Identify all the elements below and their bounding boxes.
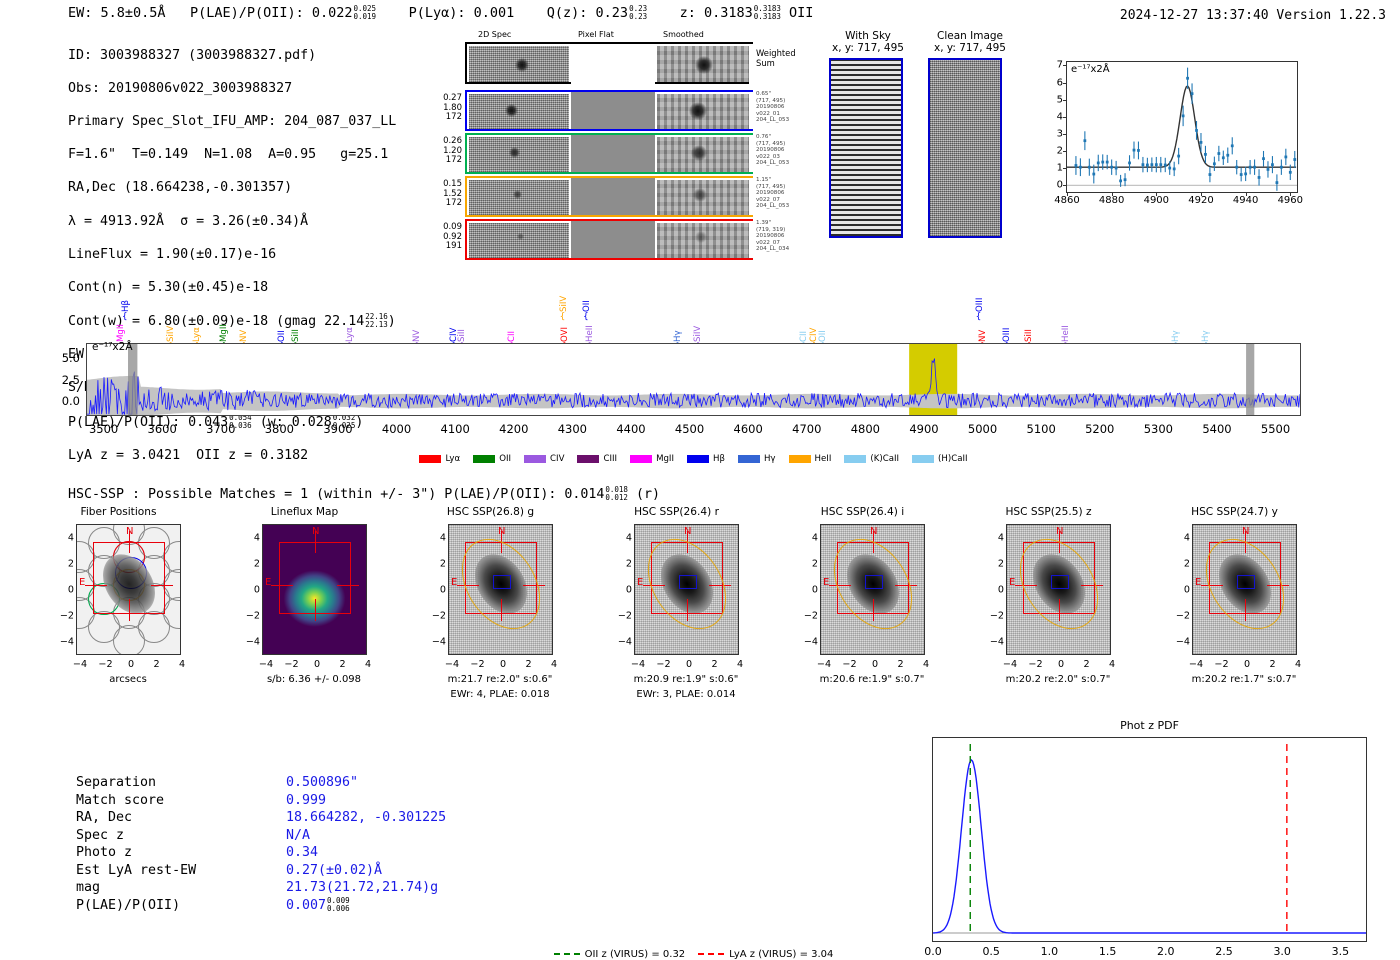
spectrum-legend-item: MgII	[630, 454, 674, 464]
legend-label: OII	[499, 454, 511, 464]
cutout-image[interactable]: NE	[1192, 524, 1297, 655]
cutout-x-tick: 4	[1109, 659, 1115, 670]
fiber-row	[465, 219, 753, 260]
header-summary: EW: 5.8±0.5Å P(LAE)/P(OII): 0.0220.0250.…	[68, 5, 813, 21]
cutout-caption-1: m:20.9 re:1.9" s:0.6"	[634, 674, 739, 685]
compass-e: E	[637, 577, 643, 588]
legend-label: Lyα	[445, 454, 460, 464]
clean-image	[928, 58, 1002, 238]
crosshair-h-right	[151, 585, 173, 586]
cutout-image[interactable]: NE	[448, 524, 553, 655]
photz-legend-swatch	[698, 953, 724, 955]
cutout-x-tick: −4	[1003, 659, 1017, 670]
cutout-x-tick: 2	[339, 659, 345, 670]
match-table-row: Photo z0.34	[76, 844, 446, 862]
fiber-row-meta: 1.15" (717, 495) 20190806 v022_07 204_LL…	[756, 177, 789, 210]
cutout-y-tick: −4	[982, 637, 1004, 648]
cutout-caption-1: arcsecs	[109, 674, 147, 685]
compass-n: N	[684, 526, 691, 537]
legend-swatch	[687, 455, 709, 463]
cutout-y-tick: 0	[238, 585, 260, 596]
cutout-x-tick: 2	[525, 659, 531, 670]
match-key: P(LAE)/P(OII)	[76, 897, 286, 915]
spectrum-legend: LyαOIICIVCIIIMgIIHβHγHeII(K)CaII(H)CaII	[0, 448, 1400, 467]
emission-line-fit-chart: e⁻¹⁷x2Å 01234567486048804900492049404960	[1032, 55, 1304, 219]
cutout-y-tick: −2	[424, 611, 446, 622]
crosshair-h-right	[337, 585, 359, 586]
cutout-x-tick: −4	[259, 659, 273, 670]
cutout-title: HSC SSP(24.7) y	[1191, 506, 1278, 518]
cutout-y-tick: −4	[610, 637, 632, 648]
cutout-y-tick: −4	[52, 637, 74, 648]
compass-e: E	[1009, 577, 1015, 588]
match-table-row: Est LyA rest-EW0.27(±0.02)Å	[76, 862, 446, 880]
match-key: Match score	[76, 792, 286, 810]
cutout-title: Fiber Positions	[81, 506, 157, 518]
cutout-x-tick: −2	[1214, 659, 1228, 670]
photz-title: Phot z PDF	[1120, 719, 1179, 732]
spectrum-x-tick: 4700	[792, 422, 821, 436]
spectrum-legend-item: Hβ	[687, 454, 725, 464]
header-plae: P(LAE)/P(OII): 0.022	[190, 5, 353, 21]
cutout-x-tick: −4	[631, 659, 645, 670]
legend-label: CIV	[550, 454, 564, 464]
spectrum-line-label: SiIV	[693, 308, 703, 342]
spectrum-line-label: Lyα	[192, 308, 202, 342]
cutout-x-tick: 2	[1269, 659, 1275, 670]
linefit-x-tick: 4880	[1099, 195, 1124, 206]
legend-label: MgII	[656, 454, 674, 464]
cutout-y-tick: 2	[982, 559, 1004, 570]
cutout-y-tick: −4	[238, 637, 260, 648]
legend-swatch	[789, 455, 811, 463]
cutout-y-tick: 0	[796, 585, 818, 596]
cutout-x-tick: 0	[314, 659, 320, 670]
cutout-y-tick: 4	[1168, 533, 1190, 544]
spectrum-x-tick: 4800	[851, 422, 880, 436]
spectrum-legend-item: OII	[473, 454, 511, 464]
header-plya: P(Lyα): 0.001	[409, 5, 515, 21]
catalog-marker	[865, 575, 883, 589]
photz-legend-item: LyA z (VIRUS) = 3.04	[698, 949, 833, 960]
cutout-x-tick: 0	[1058, 659, 1064, 670]
cutout-y-tick: 2	[796, 559, 818, 570]
spectrum-line-label: CII	[507, 308, 517, 342]
match-table-row: Match score0.999	[76, 792, 446, 810]
spectrum-line-label: Hγ	[673, 308, 683, 342]
clean-image-title: Clean Imagex, y: 717, 495	[925, 30, 1015, 54]
fiber-row-meta: 1.39" (719, 319) 20190806 v022_07 204_LL…	[756, 220, 789, 253]
match-key: Separation	[76, 774, 286, 792]
cutout-caption-2: EWr: 4, PLAE: 0.018	[450, 689, 549, 700]
spectrum-x-tick: 5100	[1027, 422, 1056, 436]
legend-label: Hγ	[764, 454, 776, 464]
cutout-x-tick: −2	[1028, 659, 1042, 670]
info-line-params: F=1.6" T=0.149 N=1.08 A=0.95 g=25.1	[68, 147, 396, 164]
cutout-x-tick: 2	[1083, 659, 1089, 670]
spectrum-x-tick: 3700	[206, 422, 235, 436]
spectrum-x-tick: 4600	[734, 422, 763, 436]
spectrum-y-tick: 2.5	[46, 373, 80, 387]
cutout-y-tick: −4	[1168, 637, 1190, 648]
info-line-lambda: λ = 4913.92Å σ = 3.26(±0.34)Å	[68, 214, 396, 231]
cutout-x-tick: 0	[500, 659, 506, 670]
compass-e: E	[265, 577, 271, 588]
spectrum-legend-item: HeII	[789, 454, 832, 464]
spectrum-line-label: SiIV	[166, 308, 176, 342]
cutout-y-tick: 0	[1168, 585, 1190, 596]
cutout-title: Lineflux Map	[271, 506, 338, 518]
cutout-x-tick: 4	[551, 659, 557, 670]
spectrum-line-label: OIII	[975, 278, 985, 312]
legend-swatch	[630, 455, 652, 463]
linefit-svg	[1067, 62, 1297, 192]
cutout-x-tick: 0	[872, 659, 878, 670]
info-line-obs: Obs: 20190806v022_3003988327	[68, 81, 396, 98]
fiber-row-stats: 0.27 1.80 172	[422, 94, 462, 123]
spectrum-x-tick: 5500	[1261, 422, 1290, 436]
col-title-pixelflat: Pixel Flat	[578, 30, 614, 39]
spectrum-legend-item: (H)CaII	[912, 454, 968, 464]
cutout-y-tick: −4	[424, 637, 446, 648]
legend-label: HeII	[815, 454, 832, 464]
cutout-x-tick: −2	[842, 659, 856, 670]
linefit-x-tick: 4940	[1233, 195, 1258, 206]
spectrum-plot-frame	[86, 343, 1301, 416]
fiber-row-meta: 0.65" (717, 495) 20190806 v022_01 204_LL…	[756, 91, 789, 124]
weighted-sum-row	[465, 42, 753, 84]
match-key: Est LyA rest-EW	[76, 862, 286, 880]
cutout-y-tick: 0	[424, 585, 446, 596]
spectrum-line-label: NV	[978, 308, 988, 342]
compass-n: N	[498, 526, 505, 537]
cutout-y-tick: 0	[52, 585, 74, 596]
match-key: Photo z	[76, 844, 286, 862]
col-title-2dspec: 2D Spec	[478, 30, 511, 39]
cutout-y-tick: −2	[52, 611, 74, 622]
compass-n: N	[1242, 526, 1249, 537]
cutout-x-tick: −4	[445, 659, 459, 670]
photz-legend-label: OII z (VIRUS) = 0.32	[585, 949, 686, 960]
spectrum-line-label: SiII	[291, 308, 301, 342]
match-key: RA, Dec	[76, 809, 286, 827]
cutout-x-tick: −4	[73, 659, 87, 670]
cutout-x-tick: −4	[817, 659, 831, 670]
cutout-image[interactable]: NE	[1006, 524, 1111, 655]
catalog-marker	[1051, 575, 1069, 589]
spectrum-x-tick: 3900	[323, 422, 352, 436]
legend-swatch	[844, 455, 866, 463]
cutout-x-tick: 2	[153, 659, 159, 670]
fiber-row	[465, 176, 753, 217]
match-key: mag	[76, 879, 286, 897]
spectrum-x-tick: 3500	[89, 422, 118, 436]
match-table-row: mag21.73(21.72,21.74)g	[76, 879, 446, 897]
spectrum-x-tick: 5200	[1085, 422, 1114, 436]
match-table-row: RA, Dec18.664282, -0.301225	[76, 809, 446, 827]
cutout-y-tick: 2	[238, 559, 260, 570]
cutout-x-tick: 4	[1295, 659, 1301, 670]
cutout-caption-1: m:20.2 re:2.0" s:0.7"	[1006, 674, 1111, 685]
match-details-table: Separation0.500896"Match score0.999RA, D…	[76, 774, 446, 914]
spectrum-line-label: Lyα	[345, 308, 355, 342]
header-qz-range: 0.230.23	[629, 5, 647, 21]
col-title-smoothed: Smoothed	[663, 30, 704, 39]
crosshair-h-left	[85, 585, 107, 586]
spectrum-x-tick: 4400	[616, 422, 645, 436]
cutout-caption-1: m:21.7 re:2.0" s:0.6"	[448, 674, 553, 685]
spectrum-line-label: MgII	[219, 308, 229, 342]
cutout-title: HSC SSP(26.4) r	[634, 506, 719, 518]
spectrum-line-label: OVI	[560, 308, 570, 342]
match-value: 18.664282, -0.301225	[286, 810, 446, 825]
spectrum-y-tick: 0.0	[46, 394, 80, 408]
match-value: N/A	[286, 828, 310, 843]
match-value: 0.007	[286, 898, 326, 913]
photz-legend-label: LyA z (VIRUS) = 3.04	[729, 949, 833, 960]
cutout-caption-1: m:20.2 re:1.7" s:0.7"	[1192, 674, 1297, 685]
spectrum-line-label: HeII	[1061, 308, 1071, 342]
crosshair-h-left	[271, 585, 293, 586]
spectrum-legend-item: Hγ	[738, 454, 776, 464]
match-value: 0.500896"	[286, 775, 358, 790]
spectrum-line-label: NV	[239, 308, 249, 342]
timestamp-version: 2024-12-27 13:37:40 Version 1.22.3	[1120, 8, 1386, 23]
legend-label: (K)CaII	[870, 454, 899, 464]
spectrum-x-tick: 3800	[265, 422, 294, 436]
cutout-image[interactable]: NE	[262, 524, 367, 655]
info-line-lineflux: LineFlux = 1.90(±0.17)e-16	[68, 247, 396, 264]
cutout-x-tick: 4	[923, 659, 929, 670]
photz-legend-item: OII z (VIRUS) = 0.32	[554, 949, 686, 960]
match-table-row: Spec zN/A	[76, 827, 446, 845]
spectrum-x-tick: 4500	[675, 422, 704, 436]
fiber-row	[465, 133, 753, 174]
2d-spectra-panel: 2D Spec Pixel Flat Smoothed Weighted Sum…	[420, 30, 760, 262]
spectrum-x-tick: 5000	[968, 422, 997, 436]
legend-swatch	[419, 455, 441, 463]
cutout-y-tick: 4	[52, 533, 74, 544]
catalog-marker	[1237, 575, 1255, 589]
cutout-x-tick: 2	[897, 659, 903, 670]
compass-e: E	[451, 577, 457, 588]
legend-swatch	[912, 455, 934, 463]
crosshair-v-bot	[129, 599, 130, 621]
compass-n: N	[870, 526, 877, 537]
fiber-row-stats: 0.26 1.20 172	[422, 137, 462, 166]
header-z-range: 0.31830.3183	[754, 5, 781, 21]
spectrum-line-label: Hγ	[1201, 308, 1211, 342]
cutout-y-tick: 4	[610, 533, 632, 544]
header-z: z: 0.3183	[680, 5, 753, 21]
cutout-image[interactable]: NE	[634, 524, 739, 655]
with-sky-title: With Skyx, y: 717, 495	[828, 30, 908, 54]
spectrum-line-label: SiIV	[559, 278, 569, 312]
header-plae-range: 0.0250.019	[354, 5, 377, 21]
legend-swatch	[577, 455, 599, 463]
compass-n: N	[312, 526, 319, 537]
fiber-row	[465, 90, 753, 131]
spectrum-x-tick: 4200	[499, 422, 528, 436]
spectrum-x-tick: 3600	[148, 422, 177, 436]
cutout-y-tick: 4	[796, 533, 818, 544]
cutout-x-tick: −2	[284, 659, 298, 670]
legend-swatch	[473, 455, 495, 463]
cutout-title: HSC SSP(26.4) i	[821, 506, 904, 518]
cutout-y-tick: 2	[610, 559, 632, 570]
match-value: 0.34	[286, 845, 318, 860]
compass-n: N	[126, 526, 133, 537]
spectrum-line-bracket: {	[122, 312, 128, 322]
cutout-y-tick: −2	[796, 611, 818, 622]
spectrum-units: e⁻¹⁷x2Å	[92, 341, 133, 353]
legend-swatch	[524, 455, 546, 463]
photz-legend: OII z (VIRUS) = 0.32LyA z (VIRUS) = 3.04	[0, 940, 1400, 960]
match-value: 0.999	[286, 793, 326, 808]
match-table-row: Separation0.500896"	[76, 774, 446, 792]
spectrum-legend-item: CIII	[577, 454, 617, 464]
cutout-x-tick: 4	[179, 659, 185, 670]
info-line-slot: Primary Spec_Slot_IFU_AMP: 204_087_037_L…	[68, 114, 396, 131]
with-sky-image	[829, 58, 903, 238]
cutout-x-tick: 2	[711, 659, 717, 670]
cutout-x-tick: 4	[365, 659, 371, 670]
cutout-x-tick: 4	[737, 659, 743, 670]
cutout-y-tick: −2	[982, 611, 1004, 622]
spectrum-x-tick: 4100	[441, 422, 470, 436]
spectrum-line-label: SiII	[1024, 308, 1034, 342]
cutout-title: HSC SSP(26.8) g	[447, 506, 534, 518]
cutout-y-tick: 4	[982, 533, 1004, 544]
match-value: 0.27(±0.02)Å	[286, 863, 382, 878]
compass-e: E	[1195, 577, 1201, 588]
spectrum-line-label: OIII	[1002, 308, 1012, 342]
cutout-y-tick: −2	[1168, 611, 1190, 622]
cutout-y-tick: 2	[424, 559, 446, 570]
spectrum-legend-item: CIV	[524, 454, 564, 464]
spectrum-legend-item: (K)CaII	[844, 454, 899, 464]
cutout-y-tick: 2	[52, 559, 74, 570]
info-line-id: ID: 3003988327 (3003988327.pdf)	[68, 48, 396, 65]
hsc-match-header: HSC-SSP : Possible Matches = 1 (within +…	[68, 486, 660, 502]
linefit-x-tick: 4900	[1144, 195, 1169, 206]
match-value: 21.73(21.72,21.74)g	[286, 880, 438, 895]
spectrum-line-label: OII	[582, 278, 592, 312]
compass-n: N	[1056, 526, 1063, 537]
header-z-type: OII	[789, 5, 813, 21]
header-qz: Q(z): 0.23	[547, 5, 628, 21]
full-spectrum-chart: MgII{Hβ{SiIV{Lyα{MgII{NV{OII{SiII{Lyα{NV…	[0, 268, 1400, 473]
spectrum-x-tick: 4300	[558, 422, 587, 436]
spectrum-x-tick: 4900	[909, 422, 938, 436]
spectrum-line-label: HeII	[585, 308, 595, 342]
cutout-x-tick: 0	[686, 659, 692, 670]
catalog-marker	[493, 575, 511, 589]
info-line-radec: RA,Dec (18.664238,-0.301357)	[68, 180, 396, 197]
match-table-row: P(LAE)/P(OII)0.0070.0090.006	[76, 897, 446, 915]
cutout-title: HSC SSP(25.5) z	[1005, 506, 1091, 518]
fiber-row-stats: 0.15 1.52 172	[422, 180, 462, 209]
spectrum-legend-item: Lyα	[419, 454, 460, 464]
cutout-y-tick: −2	[610, 611, 632, 622]
cutout-y-tick: 0	[982, 585, 1004, 596]
spectrum-line-label: OII	[277, 308, 287, 342]
cutout-y-tick: 0	[610, 585, 632, 596]
cutout-caption-2: EWr: 3, PLAE: 0.014	[636, 689, 735, 700]
photz-pdf-chart: Phot z PDF 0.00.51.01.52.02.53.03.5	[932, 737, 1367, 942]
cutout-caption-1: m:20.6 re:1.9" s:0.7"	[820, 674, 925, 685]
linefit-x-tick: 4960	[1278, 195, 1303, 206]
spectrum-y-tick: 5.0	[46, 351, 80, 365]
cutout-x-tick: −2	[656, 659, 670, 670]
spectrum-line-label: CII	[799, 308, 809, 342]
spectrum-x-tick: 5400	[1202, 422, 1231, 436]
fiber-row-meta: 0.76" (717, 495) 20190806 v022_03 204_LL…	[756, 134, 789, 167]
cutout-image[interactable]: NE	[76, 524, 181, 655]
cutout-caption-1: s/b: 6.36 +/- 0.098	[267, 674, 361, 685]
header-ew: EW: 5.8±0.5Å	[68, 5, 166, 21]
weighted-sum-label: Weighted Sum	[756, 48, 796, 68]
legend-label: Hβ	[713, 454, 725, 464]
cutout-x-tick: −2	[98, 659, 112, 670]
spectrum-line-label: Hβ	[121, 278, 131, 312]
cutout-x-tick: 0	[128, 659, 134, 670]
spectrum-x-tick: 4000	[382, 422, 411, 436]
cutout-image[interactable]: NE	[820, 524, 925, 655]
linefit-x-tick: 4860	[1054, 195, 1079, 206]
cutout-x-tick: −4	[1189, 659, 1203, 670]
fiber-row-stats: 0.09 0.92 191	[422, 223, 462, 252]
cutout-x-tick: 0	[1244, 659, 1250, 670]
compass-e: E	[79, 577, 85, 588]
cutout-y-tick: 2	[1168, 559, 1190, 570]
spectrum-x-tick: 5300	[1144, 422, 1173, 436]
cutout-x-tick: −2	[470, 659, 484, 670]
catalog-marker	[679, 575, 697, 589]
spectrum-line-label: SiII	[457, 308, 467, 342]
legend-swatch	[738, 455, 760, 463]
spectrum-line-label: Hγ	[1171, 308, 1181, 342]
cutout-y-tick: −4	[796, 637, 818, 648]
linefit-x-tick: 4920	[1188, 195, 1213, 206]
spectrum-line-label: NV	[412, 308, 422, 342]
compass-e: E	[823, 577, 829, 588]
crosshair-v-bot	[315, 599, 316, 621]
spectrum-line-label: OII	[818, 308, 828, 342]
match-key: Spec z	[76, 827, 286, 845]
cutout-y-tick: 4	[424, 533, 446, 544]
legend-label: CIII	[603, 454, 617, 464]
photz-legend-swatch	[554, 953, 580, 955]
cutout-y-tick: −2	[238, 611, 260, 622]
cutout-y-tick: 4	[238, 533, 260, 544]
legend-label: (H)CaII	[938, 454, 968, 464]
